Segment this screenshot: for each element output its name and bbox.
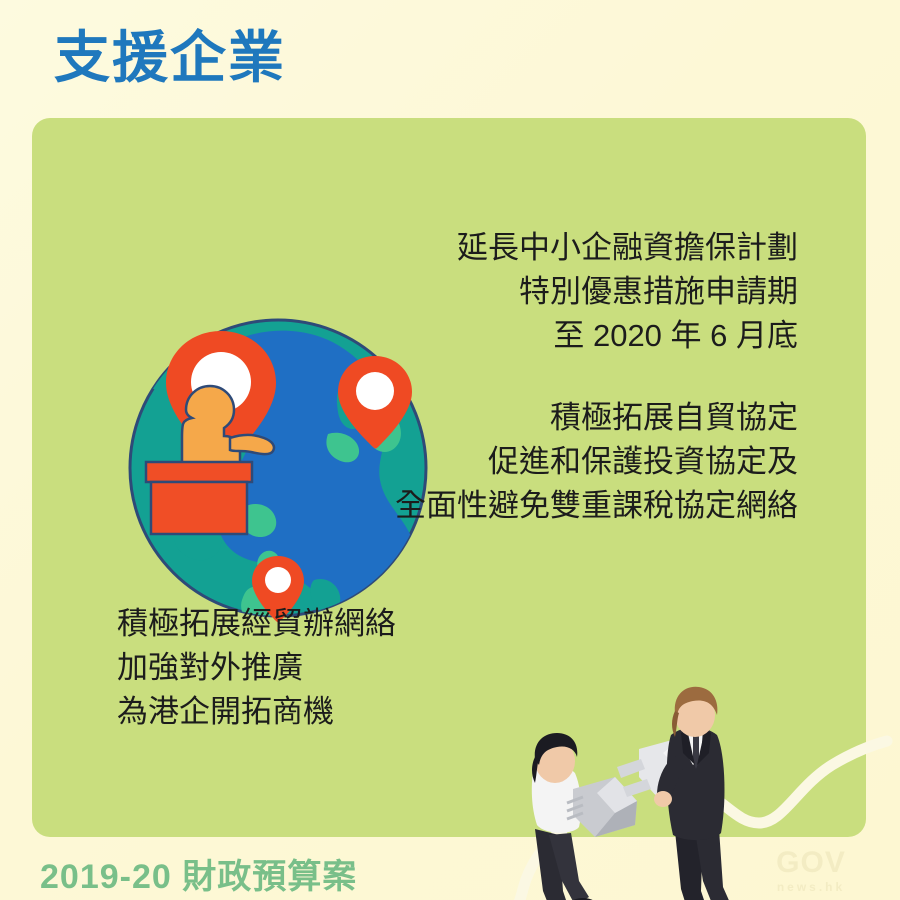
content-card: 延長中小企融資擔保計劃 特別優惠措施申請期 至 2020 年 6 月底 積極拓展… <box>32 118 866 837</box>
page-title: 支援企業 <box>54 30 286 86</box>
podium-top <box>146 462 252 482</box>
statement-text-block-2: 積極拓展自貿協定 促進和保護投資協定及 全面性避免雙重課稅協定網絡 <box>395 396 798 528</box>
logo-sub-text: news.hk <box>750 878 872 896</box>
infographic-canvas: 支援企業 <box>0 0 900 900</box>
govnews-logo: GOV news.hk <box>750 848 872 892</box>
statement-text-block-1: 延長中小企融資擔保計劃 特別優惠措施申請期 至 2020 年 6 月底 <box>457 226 798 358</box>
logo-main-text: GOV <box>750 848 872 878</box>
globe-illustration <box>118 288 438 638</box>
podium-body <box>151 482 247 534</box>
person-right <box>654 687 734 900</box>
footer-caption: 2019-20 財政預算案 <box>40 849 357 898</box>
statement-text-block-3: 積極拓展經貿辦網絡 加強對外推廣 為港企開拓商機 <box>117 602 396 734</box>
